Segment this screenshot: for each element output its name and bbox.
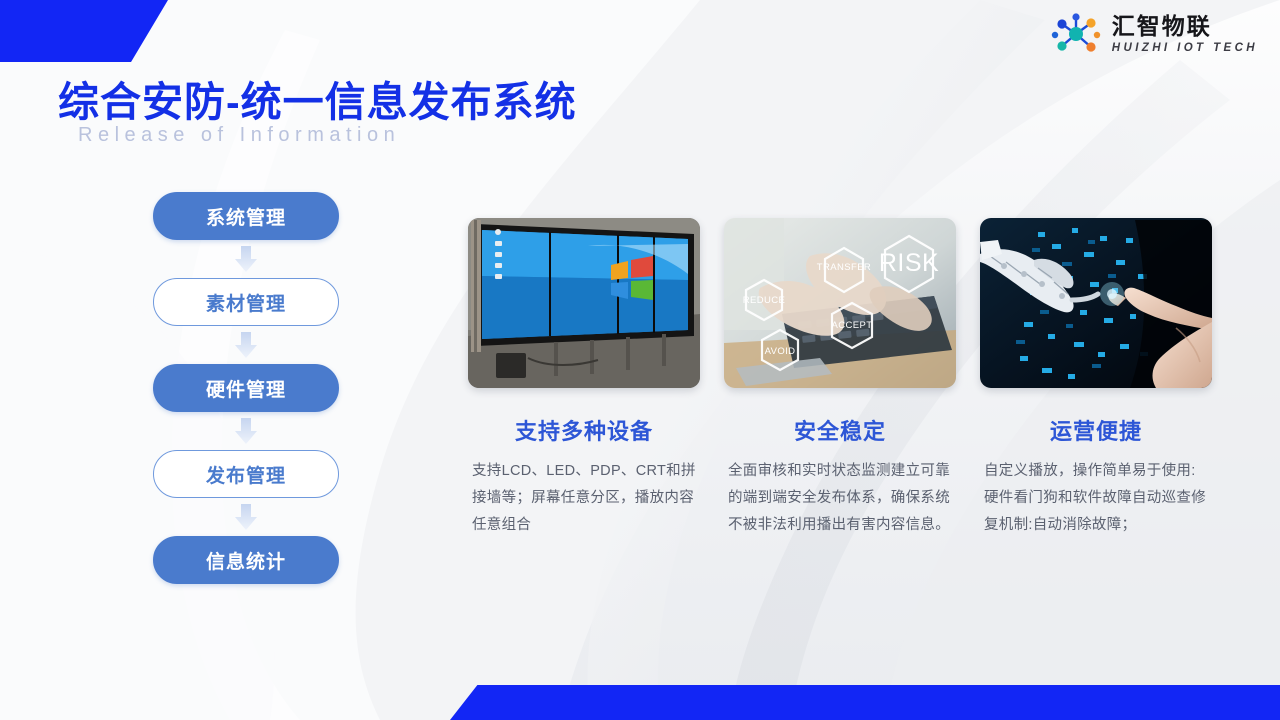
flow-step-material-management[interactable]: 素材管理 <box>153 278 339 326</box>
process-flow: 系统管理 素材管理 硬件管理 发布管理 <box>153 192 339 584</box>
arrow-down-icon <box>153 498 339 536</box>
flow-step-label: 信息统计 <box>206 547 286 574</box>
flow-step-label: 素材管理 <box>206 289 286 316</box>
risk-management-photo: RISK TRANSFER REDUCE ACCEPT AVOID <box>724 218 956 388</box>
feature-card-title: 支持多种设备 <box>468 414 700 446</box>
feature-card: RISK TRANSFER REDUCE ACCEPT AVOID 安全稳定 全… <box>724 218 956 538</box>
flow-step-label: 系统管理 <box>206 203 286 230</box>
ai-handshake-photo <box>980 218 1212 388</box>
flow-step-information-statistics[interactable]: 信息统计 <box>153 536 339 584</box>
svg-text:TRANSFER: TRANSFER <box>817 262 871 273</box>
page-title: 综合安防-统一信息发布系统 <box>58 68 577 128</box>
flow-step-label: 硬件管理 <box>206 375 286 402</box>
svg-text:AVOID: AVOID <box>765 346 796 357</box>
flow-step-publish-management[interactable]: 发布管理 <box>153 450 339 498</box>
feature-card-title: 安全稳定 <box>724 414 956 446</box>
feature-card-list: 支持多种设备 支持LCD、LED、PDP、CRT和拼接墙等；屏幕任意分区，播放内… <box>468 218 1212 538</box>
feature-card-body: 全面审核和实时状态监测建立可靠的端到端安全发布体系，确保系统不被非法利用播出有害… <box>724 458 956 538</box>
brand-logo: 汇智物联 HUIZHI IOT TECH <box>1051 12 1258 58</box>
feature-card-title: 运营便捷 <box>980 414 1212 446</box>
flow-step-system-management[interactable]: 系统管理 <box>153 192 339 240</box>
molecule-network-icon <box>1051 12 1103 58</box>
feature-card: 支持多种设备 支持LCD、LED、PDP、CRT和拼接墙等；屏幕任意分区，播放内… <box>468 218 700 538</box>
svg-text:RISK: RISK <box>879 249 939 277</box>
arrow-down-icon <box>153 326 339 364</box>
brand-name-en: HUIZHI IOT TECH <box>1112 43 1258 55</box>
feature-card-body: 自定义播放，操作简单易于使用:硬件看门狗和软件故障自动巡查修复机制:自动消除故障… <box>980 458 1212 538</box>
svg-text:ACCEPT: ACCEPT <box>832 320 873 331</box>
svg-text:REDUCE: REDUCE <box>743 295 786 306</box>
brand-name-cn: 汇智物联 <box>1112 15 1258 38</box>
arrow-down-icon <box>153 412 339 450</box>
feature-card: 运营便捷 自定义播放，操作简单易于使用:硬件看门狗和软件故障自动巡查修复机制:自… <box>980 218 1212 538</box>
video-wall-photo <box>468 218 700 388</box>
flow-step-label: 发布管理 <box>206 461 286 488</box>
decor-corner-top-left <box>0 0 168 62</box>
page-subtitle: Release of Information <box>78 124 400 147</box>
arrow-down-icon <box>153 240 339 278</box>
flow-step-hardware-management[interactable]: 硬件管理 <box>153 364 339 412</box>
slide-canvas: 汇智物联 HUIZHI IOT TECH 综合安防-统一信息发布系统 Relea… <box>0 0 1280 720</box>
decor-bar-bottom <box>450 685 1280 720</box>
feature-card-body: 支持LCD、LED、PDP、CRT和拼接墙等；屏幕任意分区，播放内容任意组合 <box>468 458 700 538</box>
